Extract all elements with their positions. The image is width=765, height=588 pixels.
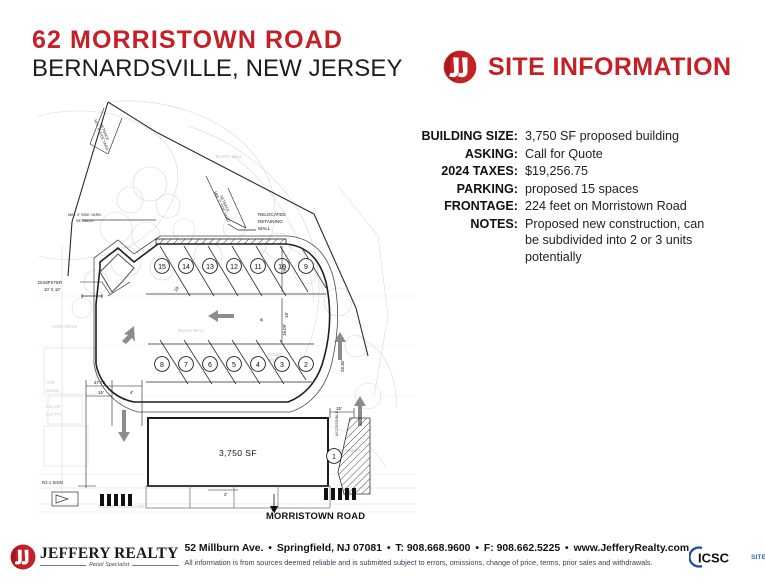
legal-disclaimer: All information is from sources deemed r… (184, 557, 689, 568)
detail-value: 3,750 SF proposed building (525, 128, 748, 145)
detail-value: Proposed new construction, can be subdiv… (525, 216, 748, 266)
icsc-logo-icon: ICSC (689, 546, 745, 568)
parking-space-4: 4 (251, 357, 266, 372)
site-information-heading: SITE INFORMATION (443, 50, 731, 84)
svg-text:3: 3 (280, 362, 284, 369)
tagline-row: Retail Specialist (40, 563, 178, 568)
dimension-18-09: 18.09' (282, 324, 287, 336)
parking-space-8: 8 (155, 357, 170, 372)
contact-separator-3: • (473, 543, 481, 554)
parking-space-2: 2 (299, 357, 314, 372)
contact-city-state-zip: Springfield, NJ 07081 (277, 543, 382, 554)
icsc-badge: ICSC (689, 546, 745, 568)
brochure-page: 62 MORRISTOWN ROAD BERNARDSVILLE, NEW JE… (0, 0, 765, 588)
detail-row-taxes: 2024 TAXES: $19,256.75 (398, 163, 748, 180)
dimension-16: 16' (284, 312, 289, 318)
parking-numbers-top-row: 15 14 13 12 11 (155, 259, 314, 274)
detail-value: proposed 15 spaces (525, 181, 748, 198)
contact-line: 52 Millburn Ave. • Springfield, NJ 07081… (184, 542, 689, 556)
r1-1-sign-symbol: R1-1 SIGN (42, 480, 96, 506)
svg-text:5: 5 (232, 362, 236, 369)
svg-text:4: 4 (256, 362, 260, 369)
svg-text:14: 14 (182, 264, 190, 271)
dimension-2-bottom: 2' (224, 492, 227, 497)
svg-text:BLOCK WALL: BLOCK WALL (216, 154, 243, 159)
detail-label: ASKING: (398, 146, 525, 163)
svg-text:2: 2 (304, 362, 308, 369)
company-name: JEFFERY REALTY (40, 545, 178, 562)
svg-text:12: 12 (230, 264, 238, 271)
detail-label: PARKING: (398, 181, 525, 198)
notes-line-1: Proposed new construction, can (525, 216, 748, 233)
svg-text:KIOSK: KIOSK (46, 388, 59, 393)
dimension-27-72: 27.72 (94, 380, 106, 385)
sidewalk-strip (146, 486, 330, 508)
dimension-19-3: 19.3' (282, 264, 287, 274)
svg-text:PILLAR: PILLAR (46, 404, 60, 409)
contact-address: 52 Millburn Ave. (184, 543, 263, 554)
parking-space-9: 9 (299, 259, 314, 274)
annotation-retaining-wall-line2: RETAINING (258, 219, 283, 224)
footer-contact-block: 52 Millburn Ave. • Springfield, NJ 07081… (184, 542, 689, 568)
site-source-logo-icon: SITE SOURCE THE NET RETAIL NETWORK (751, 547, 765, 567)
dimension-18: 18' (173, 285, 181, 293)
affiliation-badges: ICSC SITE SOURCE THE NET RETAIL NETWORK (689, 546, 765, 568)
detail-label: NOTES: (398, 216, 525, 266)
site-details-table: BUILDING SIZE: 3,750 SF proposed buildin… (398, 128, 748, 266)
detail-row-building-size: BUILDING SIZE: 3,750 SF proposed buildin… (398, 128, 748, 145)
contact-website-link[interactable]: www.JefferyRealty.com (574, 543, 690, 554)
site-plan-svg: BLOCK WALL YARD DRIVE ATM KIOSK PILLAR (… (38, 96, 416, 521)
parking-space-6: 6 (203, 357, 218, 372)
dimension-15-right: 15' (336, 406, 342, 411)
svg-text:(LIT PT): (LIT PT) (46, 412, 62, 417)
svg-text:7: 7 (184, 362, 188, 369)
annotation-retaining-wall-line3: WALL (258, 226, 271, 231)
address-street: 62 MORRISTOWN ROAD (32, 28, 403, 54)
setback-label-bottom-b: SETBACK (76, 219, 94, 223)
address-city-state: BERNARDSVILLE, NEW JERSEY (32, 56, 403, 82)
dimension-9: 9' (259, 317, 265, 323)
company-tagline: Retail Specialist (89, 563, 129, 568)
contact-separator-4: • (563, 543, 571, 554)
detail-row-frontage: FRONTAGE: 224 feet on Morristown Road (398, 198, 748, 215)
parking-space-11: 11 (251, 259, 266, 274)
svg-text:1: 1 (332, 454, 336, 461)
site-source-badge: SITE SOURCE THE NET RETAIL NETWORK (751, 547, 765, 567)
jeffery-realty-jj-logo-icon (443, 50, 477, 84)
svg-text:8: 8 (160, 362, 164, 369)
dumpster-annotation: DUMPSTER 10' X 10' (38, 280, 110, 294)
detail-value: Call for Quote (525, 146, 748, 163)
contact-separator-2: • (385, 543, 393, 554)
arrow-down-left (118, 410, 130, 442)
svg-text:9: 9 (304, 264, 308, 271)
parking-space-13: 13 (203, 259, 218, 274)
page-footer: JEFFERY REALTY Retail Specialist 52 Mill… (0, 536, 765, 588)
building-area-label: 3,750 SF (219, 448, 257, 458)
jeffery-realty-footer-logo: JEFFERY REALTY Retail Specialist (10, 544, 178, 570)
site-information-title: SITE INFORMATION (488, 53, 731, 82)
detail-row-notes: NOTES: Proposed new construction, can be… (398, 216, 748, 266)
svg-text:15: 15 (158, 264, 166, 271)
svg-text:ICSC: ICSC (698, 551, 730, 566)
proposed-building: 3,750 SF (148, 418, 328, 486)
setback-label-bottom-a: MIN. 0' SIDE YARD (68, 213, 101, 217)
accessible-parking-area: 1 ACCESSIBLE (327, 411, 370, 494)
annotation-dumpster-line1: DUMPSTER (38, 280, 62, 285)
arrow-left (208, 310, 234, 322)
street-label-morristown-road: MORRISTOWN ROAD (266, 510, 365, 521)
contact-phone[interactable]: T: 908.668.9600 (395, 543, 470, 554)
property-address: 62 MORRISTOWN ROAD BERNARDSVILLE, NEW JE… (32, 28, 403, 81)
dimension-4: 4' (130, 390, 133, 395)
accessible-stall-note: ACCESSIBLE (334, 411, 339, 436)
svg-text:11: 11 (254, 264, 261, 271)
svg-text:ATM: ATM (46, 380, 55, 385)
notes-line-2: be subdivided into 2 or 3 units (525, 232, 748, 249)
svg-text:FOUND: FOUND (268, 352, 283, 357)
detail-label: FRONTAGE: (398, 198, 525, 215)
tagline-rule-right (132, 565, 178, 566)
retaining-wall-annotation: RELOCATED RETAINING WALL (258, 212, 286, 231)
page-header: 62 MORRISTOWN ROAD BERNARDSVILLE, NEW JE… (0, 0, 765, 100)
annotation-r1-1-sign: R1-1 SIGN (42, 480, 63, 485)
detail-row-parking: PARKING: proposed 15 spaces (398, 181, 748, 198)
contact-separator-1: • (266, 543, 274, 554)
detail-value: $19,256.75 (525, 163, 748, 180)
svg-text:YARD DRIVE: YARD DRIVE (52, 324, 77, 329)
parking-space-15: 15 (155, 259, 170, 274)
street-label-group: MORRISTOWN ROAD (266, 494, 365, 521)
site-plan-drawing: BLOCK WALL YARD DRIVE ATM KIOSK PILLAR (… (38, 96, 416, 521)
dimension-28-36: 28.36' (340, 360, 345, 372)
parking-space-5: 5 (227, 357, 242, 372)
dimension-15-left: 15' (98, 390, 104, 395)
parking-space-7: 7 (179, 357, 194, 372)
svg-text:13: 13 (206, 264, 214, 271)
detail-label: BUILDING SIZE: (398, 128, 525, 145)
detail-label: 2024 TAXES: (398, 163, 525, 180)
parking-space-3: 3 (275, 357, 290, 372)
annotation-dumpster-line2: 10' X 10' (44, 287, 61, 292)
detail-value: 224 feet on Morristown Road (525, 198, 748, 215)
svg-text:SITE: SITE (751, 554, 765, 561)
notes-line-3: potentially (525, 249, 748, 266)
parking-space-12: 12 (227, 259, 242, 274)
tagline-rule-left (40, 565, 86, 566)
jeffery-realty-wordmark: JEFFERY REALTY Retail Specialist (40, 546, 178, 568)
setback-labels: MIN. 0' SIDE YARD SETBACK MIN. 0' SIDE Y… (68, 119, 230, 223)
detail-row-asking: ASKING: Call for Quote (398, 146, 748, 163)
contact-fax: F: 908.662.5225 (484, 543, 560, 554)
svg-text:6: 6 (208, 362, 212, 369)
parking-space-14: 14 (179, 259, 194, 274)
arrow-diagonal (122, 326, 135, 344)
annotation-retaining-wall-line1: RELOCATED (258, 212, 286, 217)
jeffery-realty-jj-mark-icon (10, 544, 36, 570)
svg-text:BLOCK WALL: BLOCK WALL (178, 328, 205, 333)
